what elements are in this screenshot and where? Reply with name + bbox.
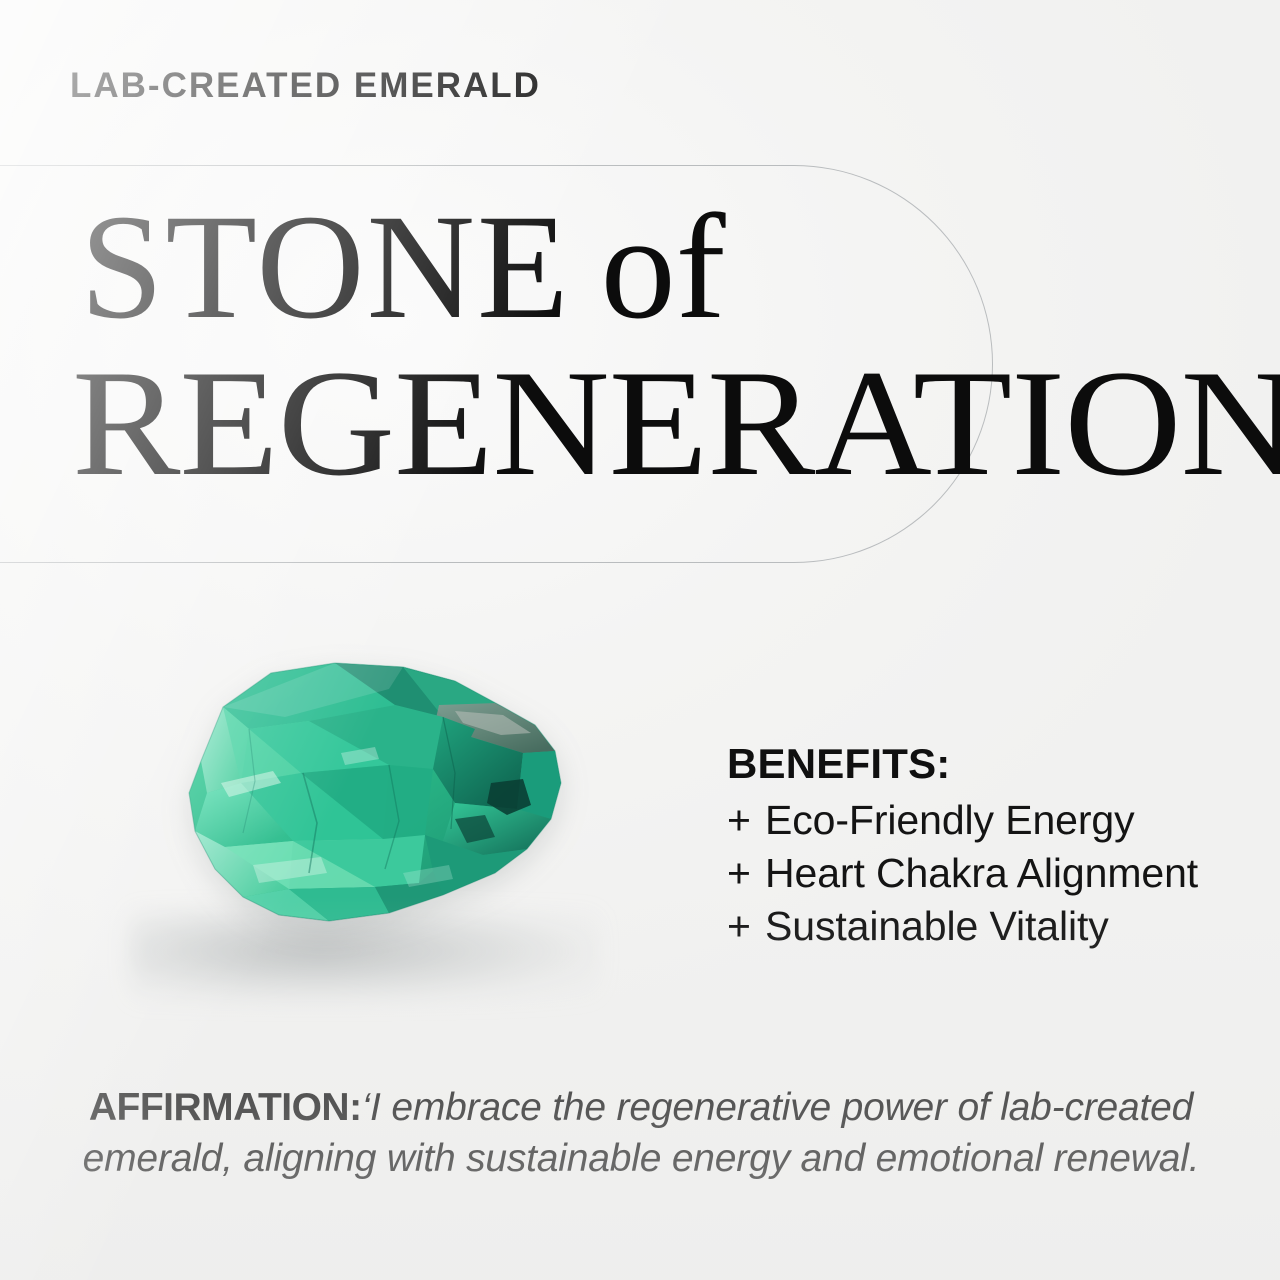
headline-line-1: STONEof: [80, 196, 1266, 339]
benefits-section: BENEFITS: + Eco-Friendly Energy + Heart …: [727, 742, 1267, 953]
benefit-label: Sustainable Vitality: [765, 900, 1109, 953]
hero-image-container: [85, 625, 605, 1025]
poster-canvas: LAB-CREATED EMERALD STONEof REGENERATION: [0, 0, 1280, 1280]
benefits-title: BENEFITS:: [727, 742, 1267, 787]
page-title: STONEof REGENERATION: [76, 196, 1266, 495]
plus-icon: +: [727, 847, 765, 900]
eyebrow-label: LAB-CREATED EMERALD: [70, 66, 541, 106]
benefit-item-3: + Sustainable Vitality: [727, 900, 1267, 953]
plus-icon: +: [727, 900, 765, 953]
affirmation-section: AFFIRMATION:‘I embrace the regenerative …: [62, 1083, 1220, 1184]
benefit-item-1: + Eco-Friendly Energy: [727, 794, 1267, 847]
benefit-label: Heart Chakra Alignment: [765, 847, 1198, 900]
headline-word-stone: STONE: [80, 184, 571, 350]
gemstone-facets: [195, 663, 561, 921]
headline-word-of: of: [601, 184, 726, 350]
emerald-crystal-icon: [103, 633, 583, 963]
benefit-item-2: + Heart Chakra Alignment: [727, 847, 1267, 900]
benefit-label: Eco-Friendly Energy: [765, 794, 1135, 847]
plus-icon: +: [727, 794, 765, 847]
headline-line-2: REGENERATION: [72, 351, 1280, 495]
affirmation-label: AFFIRMATION:: [89, 1086, 362, 1129]
